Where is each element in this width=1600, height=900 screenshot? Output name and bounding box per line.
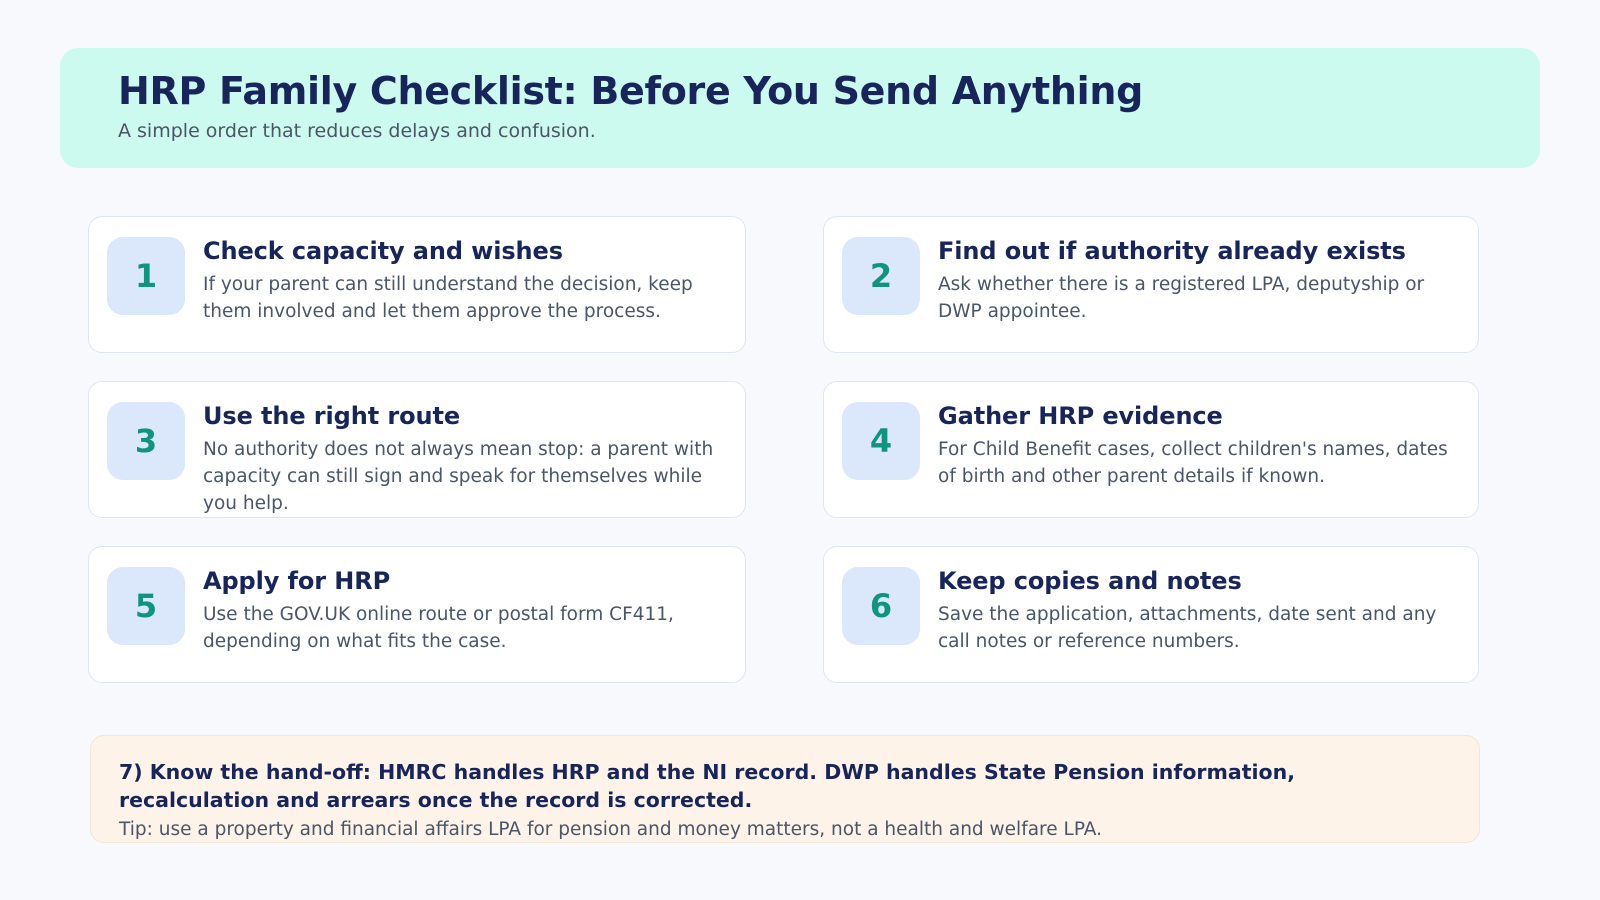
step-title: Use the right route bbox=[203, 401, 725, 432]
step-number-label: 3 bbox=[135, 422, 157, 460]
step-number-badge: 4 bbox=[842, 402, 920, 480]
page-subtitle: A simple order that reduces delays and c… bbox=[118, 120, 1482, 143]
step-content: Check capacity and wishes If your parent… bbox=[203, 235, 725, 325]
checklist-step-card: 3 Use the right route No authority does … bbox=[88, 381, 746, 518]
checklist-steps-grid: 1 Check capacity and wishes If your pare… bbox=[0, 216, 1600, 696]
step-content: Find out if authority already exists Ask… bbox=[938, 235, 1458, 325]
step-title: Check capacity and wishes bbox=[203, 236, 725, 267]
handoff-note-tip: Tip: use a property and financial affair… bbox=[119, 817, 1451, 843]
checklist-step-card: 2 Find out if authority already exists A… bbox=[823, 216, 1479, 353]
checklist-step-card: 6 Keep copies and notes Save the applica… bbox=[823, 546, 1479, 683]
step-content: Apply for HRP Use the GOV.UK online rout… bbox=[203, 565, 725, 655]
step-content: Use the right route No authority does no… bbox=[203, 400, 725, 517]
step-title: Apply for HRP bbox=[203, 566, 725, 597]
page-title: HRP Family Checklist: Before You Send An… bbox=[118, 70, 1482, 113]
step-description: Use the GOV.UK online route or postal fo… bbox=[203, 601, 725, 655]
step-number-label: 2 bbox=[870, 257, 892, 295]
step-number-badge: 2 bbox=[842, 237, 920, 315]
step-number-label: 5 bbox=[135, 587, 157, 625]
step-description: Save the application, attachments, date … bbox=[938, 601, 1458, 655]
checklist-step-card: 1 Check capacity and wishes If your pare… bbox=[88, 216, 746, 353]
header-banner: HRP Family Checklist: Before You Send An… bbox=[60, 48, 1540, 168]
handoff-note-panel: 7) Know the hand-off: HMRC handles HRP a… bbox=[90, 735, 1480, 843]
step-number-badge: 6 bbox=[842, 567, 920, 645]
step-description: If your parent can still understand the … bbox=[203, 271, 725, 325]
step-content: Keep copies and notes Save the applicati… bbox=[938, 565, 1458, 655]
step-description: Ask whether there is a registered LPA, d… bbox=[938, 271, 1458, 325]
handoff-note-text: 7) Know the hand-off: HMRC handles HRP a… bbox=[119, 758, 1451, 815]
step-title: Keep copies and notes bbox=[938, 566, 1458, 597]
step-number-label: 6 bbox=[870, 587, 892, 625]
step-number-label: 1 bbox=[135, 257, 157, 295]
checklist-step-card: 5 Apply for HRP Use the GOV.UK online ro… bbox=[88, 546, 746, 683]
step-number-badge: 3 bbox=[107, 402, 185, 480]
step-title: Find out if authority already exists bbox=[938, 236, 1458, 267]
checklist-step-card: 4 Gather HRP evidence For Child Benefit … bbox=[823, 381, 1479, 518]
step-number-badge: 5 bbox=[107, 567, 185, 645]
step-title: Gather HRP evidence bbox=[938, 401, 1458, 432]
step-description: No authority does not always mean stop: … bbox=[203, 436, 725, 518]
step-number-badge: 1 bbox=[107, 237, 185, 315]
step-content: Gather HRP evidence For Child Benefit ca… bbox=[938, 400, 1458, 490]
step-number-label: 4 bbox=[870, 422, 892, 460]
step-description: For Child Benefit cases, collect childre… bbox=[938, 436, 1458, 490]
